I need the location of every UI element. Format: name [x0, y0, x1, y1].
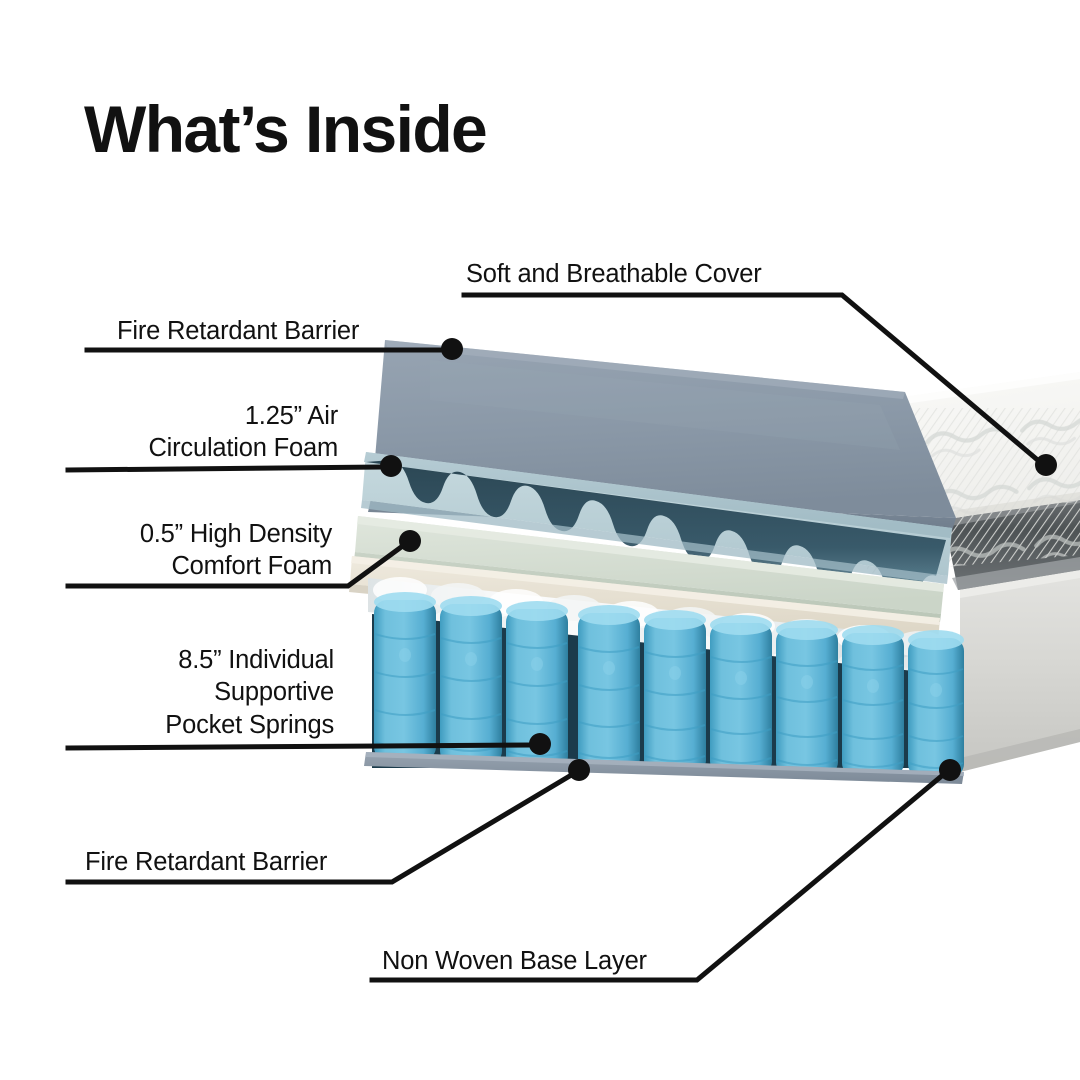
whats-inside-infographic: What’s Inside	[0, 0, 1080, 1080]
leader-dot-fire-retardant-barrier-top	[441, 338, 463, 360]
leader-pocket-springs	[68, 745, 530, 748]
leader-dot-fire-retardant-barrier-bottom	[568, 759, 590, 781]
callout-label-fire-retardant-barrier-bottom: Fire Retardant Barrier	[85, 846, 327, 878]
leader-air-circulation-foam	[68, 467, 383, 470]
leader-dot-pocket-springs	[529, 733, 551, 755]
leader-dot-air-circulation-foam	[380, 455, 402, 477]
leader-dot-non-woven-base-layer	[939, 759, 961, 781]
callout-label-soft-and-breathable-cover: Soft and Breathable Cover	[466, 258, 762, 290]
leader-dot-soft-and-breathable-cover	[1035, 454, 1057, 476]
callout-label-non-woven-base-layer: Non Woven Base Layer	[382, 945, 647, 977]
callout-label-high-density-comfort-foam: 0.5” High Density Comfort Foam	[32, 518, 332, 583]
leader-dot-high-density-comfort-foam	[399, 530, 421, 552]
callout-label-fire-retardant-barrier-top: Fire Retardant Barrier	[117, 315, 359, 347]
leader-soft-and-breathable-cover	[464, 295, 1040, 462]
callout-label-air-circulation-foam: 1.25” Air Circulation Foam	[38, 400, 338, 465]
callout-label-pocket-springs: 8.5” Individual Supportive Pocket Spring…	[34, 644, 334, 741]
